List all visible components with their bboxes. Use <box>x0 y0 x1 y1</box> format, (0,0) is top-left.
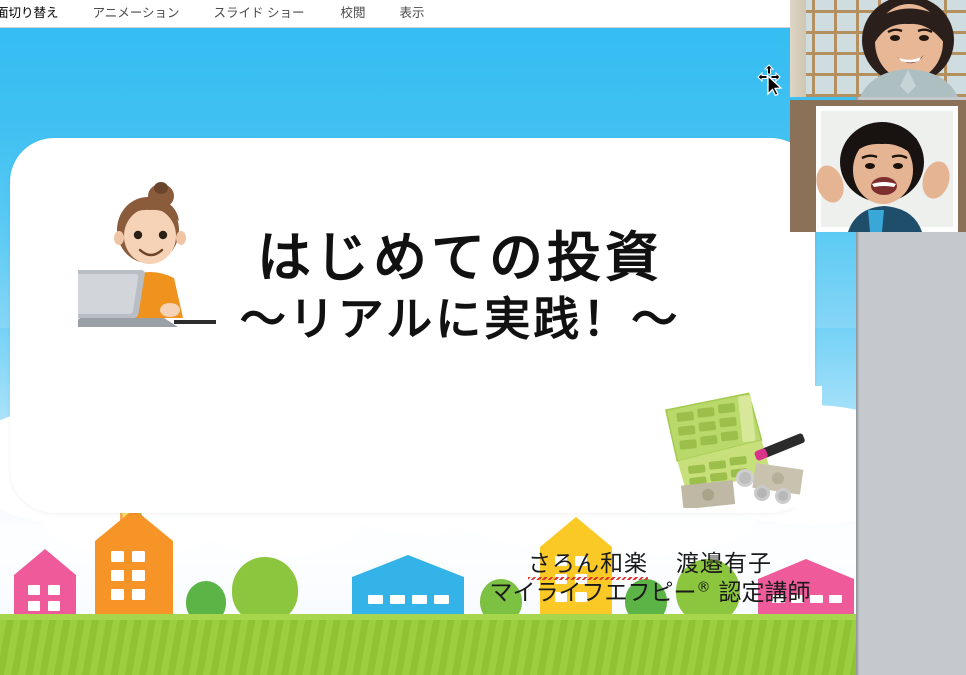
presenter-credits[interactable]: さろん和楽渡邉有子 マイライフエフピー®認定講師 <box>480 550 820 607</box>
ribbon-tab-bar: 面切り替え アニメーション スライド ショー 校閲 表示 <box>0 0 790 28</box>
certification-title: 認定講師 <box>719 580 811 606</box>
registered-trademark-icon: ® <box>697 579 711 595</box>
video-tile-participant-1[interactable] <box>790 0 966 97</box>
presenter-line-2: マイライフエフピー®認定講師 <box>480 579 820 607</box>
grass-ground <box>0 617 858 675</box>
participant-1-avatar <box>790 0 966 97</box>
participant-2-avatar <box>790 100 966 232</box>
tab-view[interactable]: 表示 <box>400 0 425 27</box>
presenter-line-1: さろん和楽渡邉有子 <box>480 550 820 578</box>
video-tile-participant-2[interactable] <box>790 100 966 232</box>
tab-slideshow[interactable]: スライド ショー <box>214 0 305 27</box>
tab-review[interactable]: 校閲 <box>341 0 366 27</box>
presenter-name: 渡邉有子 <box>676 551 772 577</box>
wallet-coins-photo <box>636 386 822 508</box>
house-shape <box>14 549 76 619</box>
slide-subtitle: 〜リアルに実践！〜 <box>200 292 720 347</box>
move-cursor <box>756 64 786 96</box>
woman-at-laptop-icon <box>78 178 218 333</box>
slide-canvas[interactable]: はじめての投資 〜リアルに実践！〜 さろん和楽渡邉有子 マイライフエフピー®認定… <box>0 28 858 675</box>
slide-title-block[interactable]: はじめての投資 〜リアルに実践！〜 <box>200 228 720 348</box>
tab-animations[interactable]: アニメーション <box>93 0 180 27</box>
brand-name: マイライフエフピー <box>490 580 697 606</box>
house-shape <box>352 555 464 619</box>
ribbon-tab-list: 面切り替え アニメーション スライド ショー 校閲 表示 <box>0 0 790 27</box>
house-shape <box>95 509 173 619</box>
org-name-misspelled: さろん和楽 <box>528 550 648 578</box>
page-title: はじめての投資 <box>200 228 720 288</box>
powerpoint-window: 面切り替え アニメーション スライド ショー 校閲 表示 <box>0 0 966 675</box>
tab-transitions[interactable]: 面切り替え <box>0 0 59 27</box>
